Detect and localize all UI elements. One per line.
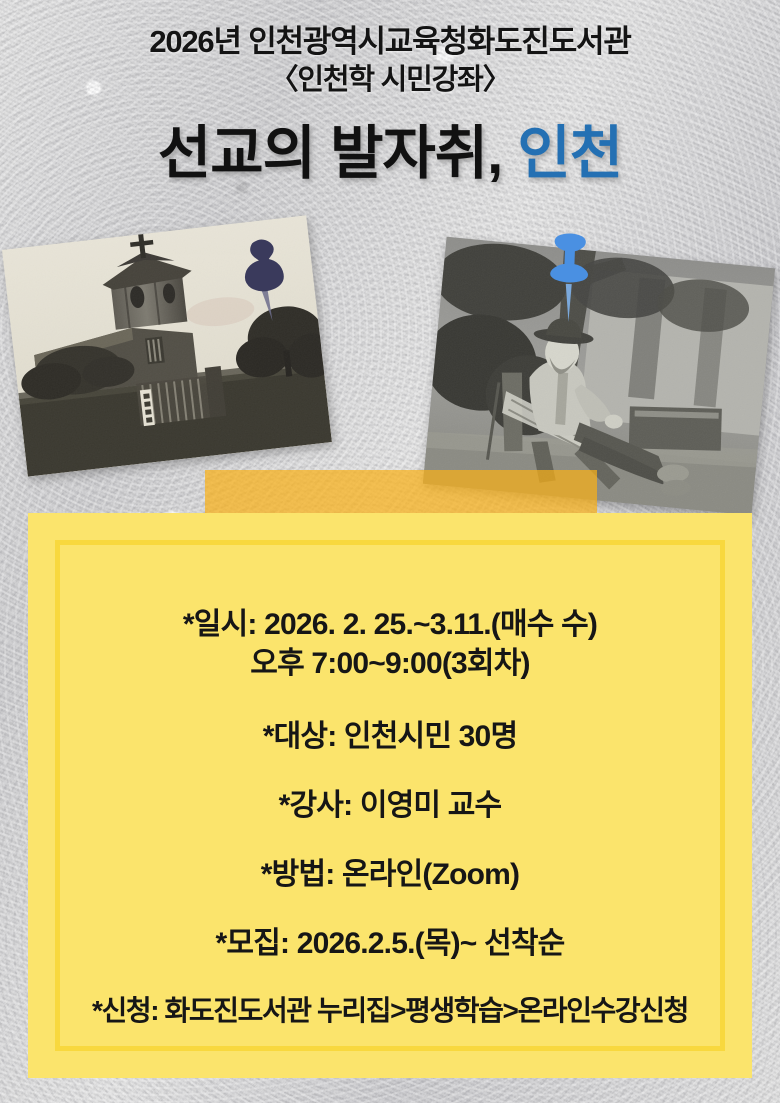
event-poster: 2026년 인천광역시교육청화도진도서관 〈인천학 시민강좌〉 선교의 발자취,… bbox=[0, 0, 780, 1103]
info-line-registration-period: *모집: 2026.2.5.(목)~ 선착순 bbox=[28, 924, 752, 963]
info-line-method: *방법: 온라인(Zoom) bbox=[28, 855, 752, 894]
info-line-datetime: *일시: 2026. 2. 25.~3.11.(매수 수) 오후 7:00~9:… bbox=[28, 605, 752, 683]
title-accent: 인천 bbox=[517, 121, 622, 186]
poster-header: 2026년 인천광역시교육청화도진도서관 〈인천학 시민강좌〉 bbox=[0, 22, 780, 99]
info-line-audience: *대상: 인천시민 30명 bbox=[28, 717, 752, 756]
info-line-how-to-apply: *신청: 화도진도서관 누리집>평생학습>온라인수강신청 bbox=[28, 993, 752, 1029]
info-datetime-sub: 오후 7:00~9:00(3회차) bbox=[28, 644, 752, 683]
header-line-1: 2026년 인천광역시교육청화도진도서관 bbox=[0, 22, 780, 62]
info-line-instructor: *강사: 이영미 교수 bbox=[28, 786, 752, 825]
info-panel: *일시: 2026. 2. 25.~3.11.(매수 수) 오후 7:00~9:… bbox=[28, 513, 752, 1078]
pushpin-blue-glyph bbox=[541, 229, 596, 325]
pushpin-blue-icon bbox=[541, 229, 596, 325]
poster-title: 선교의 발자취, 인천 bbox=[0, 124, 780, 185]
title-main: 선교의 발자취, bbox=[158, 121, 502, 186]
info-text-block: *일시: 2026. 2. 25.~3.11.(매수 수) 오후 7:00~9:… bbox=[28, 605, 752, 1029]
info-datetime-main: *일시: 2026. 2. 25.~3.11.(매수 수) bbox=[183, 608, 597, 641]
header-line-2: 〈인천학 시민강좌〉 bbox=[0, 62, 780, 99]
